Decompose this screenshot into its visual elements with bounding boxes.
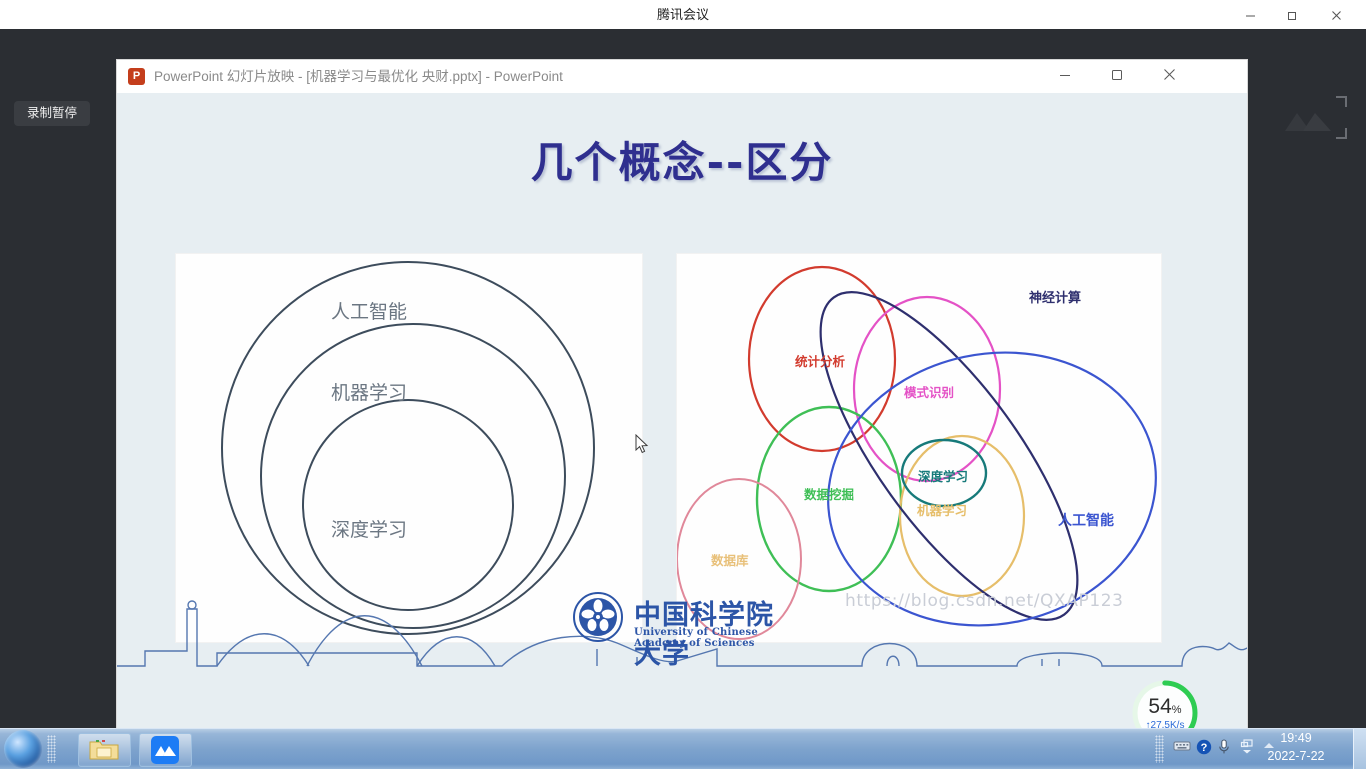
meeting-titlebar: 腾讯会议 bbox=[0, 0, 1366, 29]
university-name-en: University of Chinese Academy of Science… bbox=[634, 627, 800, 649]
folder-icon bbox=[88, 737, 120, 763]
left-circle-label-dl: 深度学习 bbox=[331, 515, 407, 542]
mouse-cursor bbox=[635, 434, 649, 454]
recording-status-pill: 录制暂停 bbox=[14, 101, 90, 126]
taskbar-item-explorer[interactable] bbox=[78, 733, 131, 767]
powerpoint-minimize-button[interactable] bbox=[1039, 60, 1091, 93]
svg-text:?: ? bbox=[1201, 742, 1208, 754]
network-percent-unit: % bbox=[1172, 704, 1182, 716]
ucas-seal-icon bbox=[572, 591, 624, 643]
windows-start-orb[interactable] bbox=[4, 730, 42, 768]
taskbar-item-tencent-meeting[interactable] bbox=[139, 733, 192, 767]
show-desktop-button[interactable] bbox=[1353, 729, 1366, 769]
venn-label-data-mining: 数据挖掘 bbox=[804, 484, 854, 503]
venn-label-neural-computing: 神经计算 bbox=[1029, 287, 1081, 306]
meeting-close-button[interactable] bbox=[1316, 0, 1356, 29]
meeting-maximize-button[interactable] bbox=[1272, 0, 1312, 29]
slide-canvas: 几个概念--区分 人工智能 机器学习 深度学习 bbox=[117, 93, 1247, 731]
taskbar-grip-tray[interactable] bbox=[1155, 735, 1164, 763]
venn-label-statistical-analysis: 统计分析 bbox=[795, 351, 845, 370]
venn-label-database: 数据库 bbox=[711, 550, 749, 569]
tray-microphone-icon[interactable] bbox=[1218, 739, 1230, 760]
meeting-content-area: 录制暂停 正在讲话: 田英杰; P bbox=[0, 29, 1366, 710]
minimize-icon bbox=[1059, 69, 1071, 81]
close-icon bbox=[1331, 10, 1342, 21]
corner-bracket-top-right bbox=[1336, 96, 1347, 107]
left-circle-label-ai: 人工智能 bbox=[331, 297, 407, 324]
maximize-icon bbox=[1287, 10, 1298, 21]
venn-label-artificial-intelligence: 人工智能 bbox=[1058, 510, 1114, 530]
powerpoint-app-icon: P bbox=[128, 68, 145, 85]
restore-icon bbox=[1111, 69, 1123, 81]
taskbar-grip-left[interactable] bbox=[47, 735, 56, 763]
ucas-logo: 中国科学院大学 University of Chinese Academy of… bbox=[572, 591, 800, 647]
venn-label-machine-learning: 机器学习 bbox=[917, 500, 967, 519]
powerpoint-window: P PowerPoint 幻灯片放映 - [机器学习与最优化 央财.pptx] … bbox=[117, 60, 1247, 762]
taskbar-clock-date[interactable]: 2022-7-22 bbox=[1250, 749, 1342, 763]
windows-taskbar: ? 19:49 2022-7-22 bbox=[0, 728, 1366, 769]
venn-label-deep-learning: 深度学习 bbox=[918, 466, 968, 485]
meeting-minimize-button[interactable] bbox=[1230, 0, 1270, 29]
meeting-app-title: 腾讯会议 bbox=[0, 0, 1366, 29]
network-percent: 54% bbox=[1129, 695, 1201, 719]
minimize-icon bbox=[1245, 10, 1256, 21]
powerpoint-window-title: PowerPoint 幻灯片放映 - [机器学习与最优化 央财.pptx] - … bbox=[154, 60, 563, 93]
slide-title: 几个概念--区分 bbox=[117, 129, 1247, 190]
tray-keyboard-icon[interactable] bbox=[1173, 739, 1191, 758]
close-icon bbox=[1163, 68, 1176, 81]
network-percent-value: 54 bbox=[1148, 695, 1171, 718]
venn-label-pattern-recognition: 模式识别 bbox=[904, 382, 954, 401]
tencent-meeting-icon bbox=[151, 736, 179, 764]
corner-bracket-bottom-right bbox=[1336, 128, 1347, 139]
left-circle-label-ml: 机器学习 bbox=[331, 378, 407, 405]
powerpoint-maximize-button[interactable] bbox=[1091, 60, 1143, 93]
tencent-meeting-window: 腾讯会议 录制暂停 bbox=[0, 0, 1366, 768]
tencent-meeting-logo bbox=[1281, 101, 1337, 141]
powerpoint-close-button[interactable] bbox=[1143, 60, 1195, 93]
tray-help-icon[interactable]: ? bbox=[1196, 739, 1212, 760]
powerpoint-titlebar[interactable]: P PowerPoint 幻灯片放映 - [机器学习与最优化 央财.pptx] … bbox=[117, 60, 1247, 94]
taskbar-clock-time[interactable]: 19:49 bbox=[1250, 731, 1342, 745]
